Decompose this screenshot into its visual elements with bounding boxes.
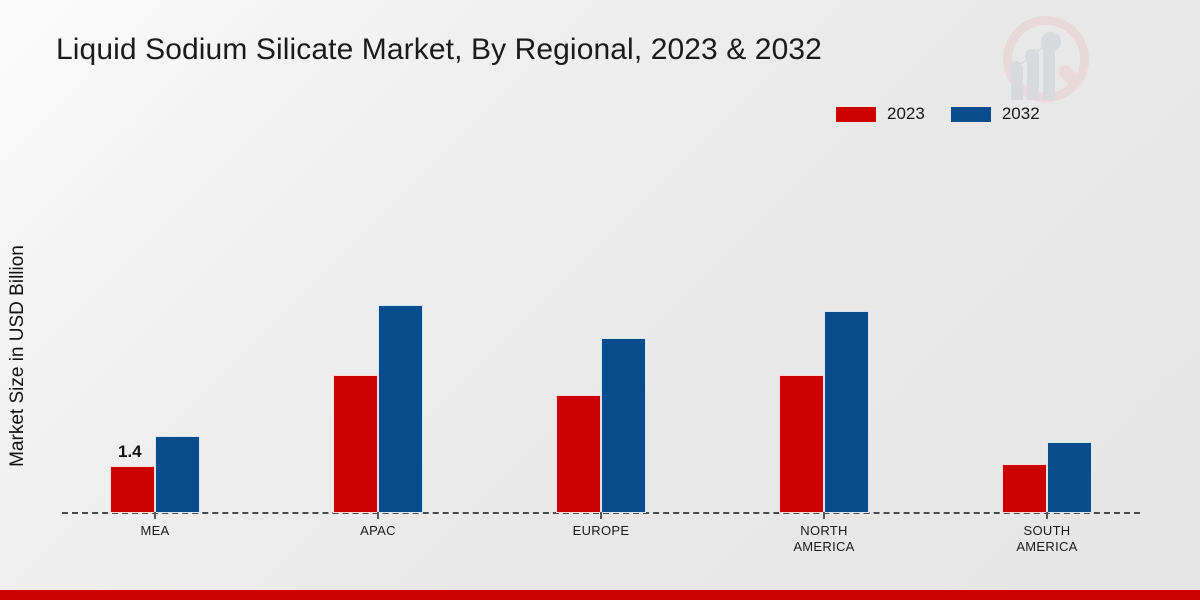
x-label-north-america-line1: NORTH [744, 523, 904, 539]
chart-container: Liquid Sodium Silicate Market, By Region… [0, 0, 1200, 600]
x-label-south-america-line2: AMERICA [967, 539, 1127, 555]
x-tick-europe [600, 512, 602, 519]
x-label-apac-line1: APAC [298, 523, 458, 539]
bar-mea-2023[interactable] [110, 466, 155, 513]
bar-south-america-2032[interactable] [1047, 442, 1092, 513]
bar-north-america-2023[interactable] [779, 375, 824, 513]
x-label-north-america-line2: AMERICA [744, 539, 904, 555]
x-tick-apac [377, 512, 379, 519]
bar-north-america-2032[interactable] [824, 311, 869, 513]
plot-area: 1.4 MEA APAC EUROPE [0, 0, 1200, 600]
x-label-mea: MEA [75, 523, 235, 539]
bar-europe-2032[interactable] [601, 338, 646, 513]
x-tick-mea [154, 512, 156, 519]
x-label-south-america-line1: SOUTH [967, 523, 1127, 539]
bar-south-america-2023[interactable] [1002, 464, 1047, 513]
x-label-europe: EUROPE [521, 523, 681, 539]
x-tick-south-america [1046, 512, 1048, 519]
x-tick-north-america [823, 512, 825, 519]
x-label-north-america: NORTH AMERICA [744, 523, 904, 555]
bar-value-mea-2023: 1.4 [118, 442, 142, 462]
x-label-apac: APAC [298, 523, 458, 539]
x-label-europe-line1: EUROPE [521, 523, 681, 539]
bar-apac-2023[interactable] [333, 375, 378, 513]
footer-accent-bar [0, 590, 1200, 600]
bar-mea-2032[interactable] [155, 436, 200, 513]
x-label-south-america: SOUTH AMERICA [967, 523, 1127, 555]
bar-europe-2023[interactable] [556, 395, 601, 513]
bar-apac-2032[interactable] [378, 305, 423, 513]
x-label-mea-line1: MEA [75, 523, 235, 539]
